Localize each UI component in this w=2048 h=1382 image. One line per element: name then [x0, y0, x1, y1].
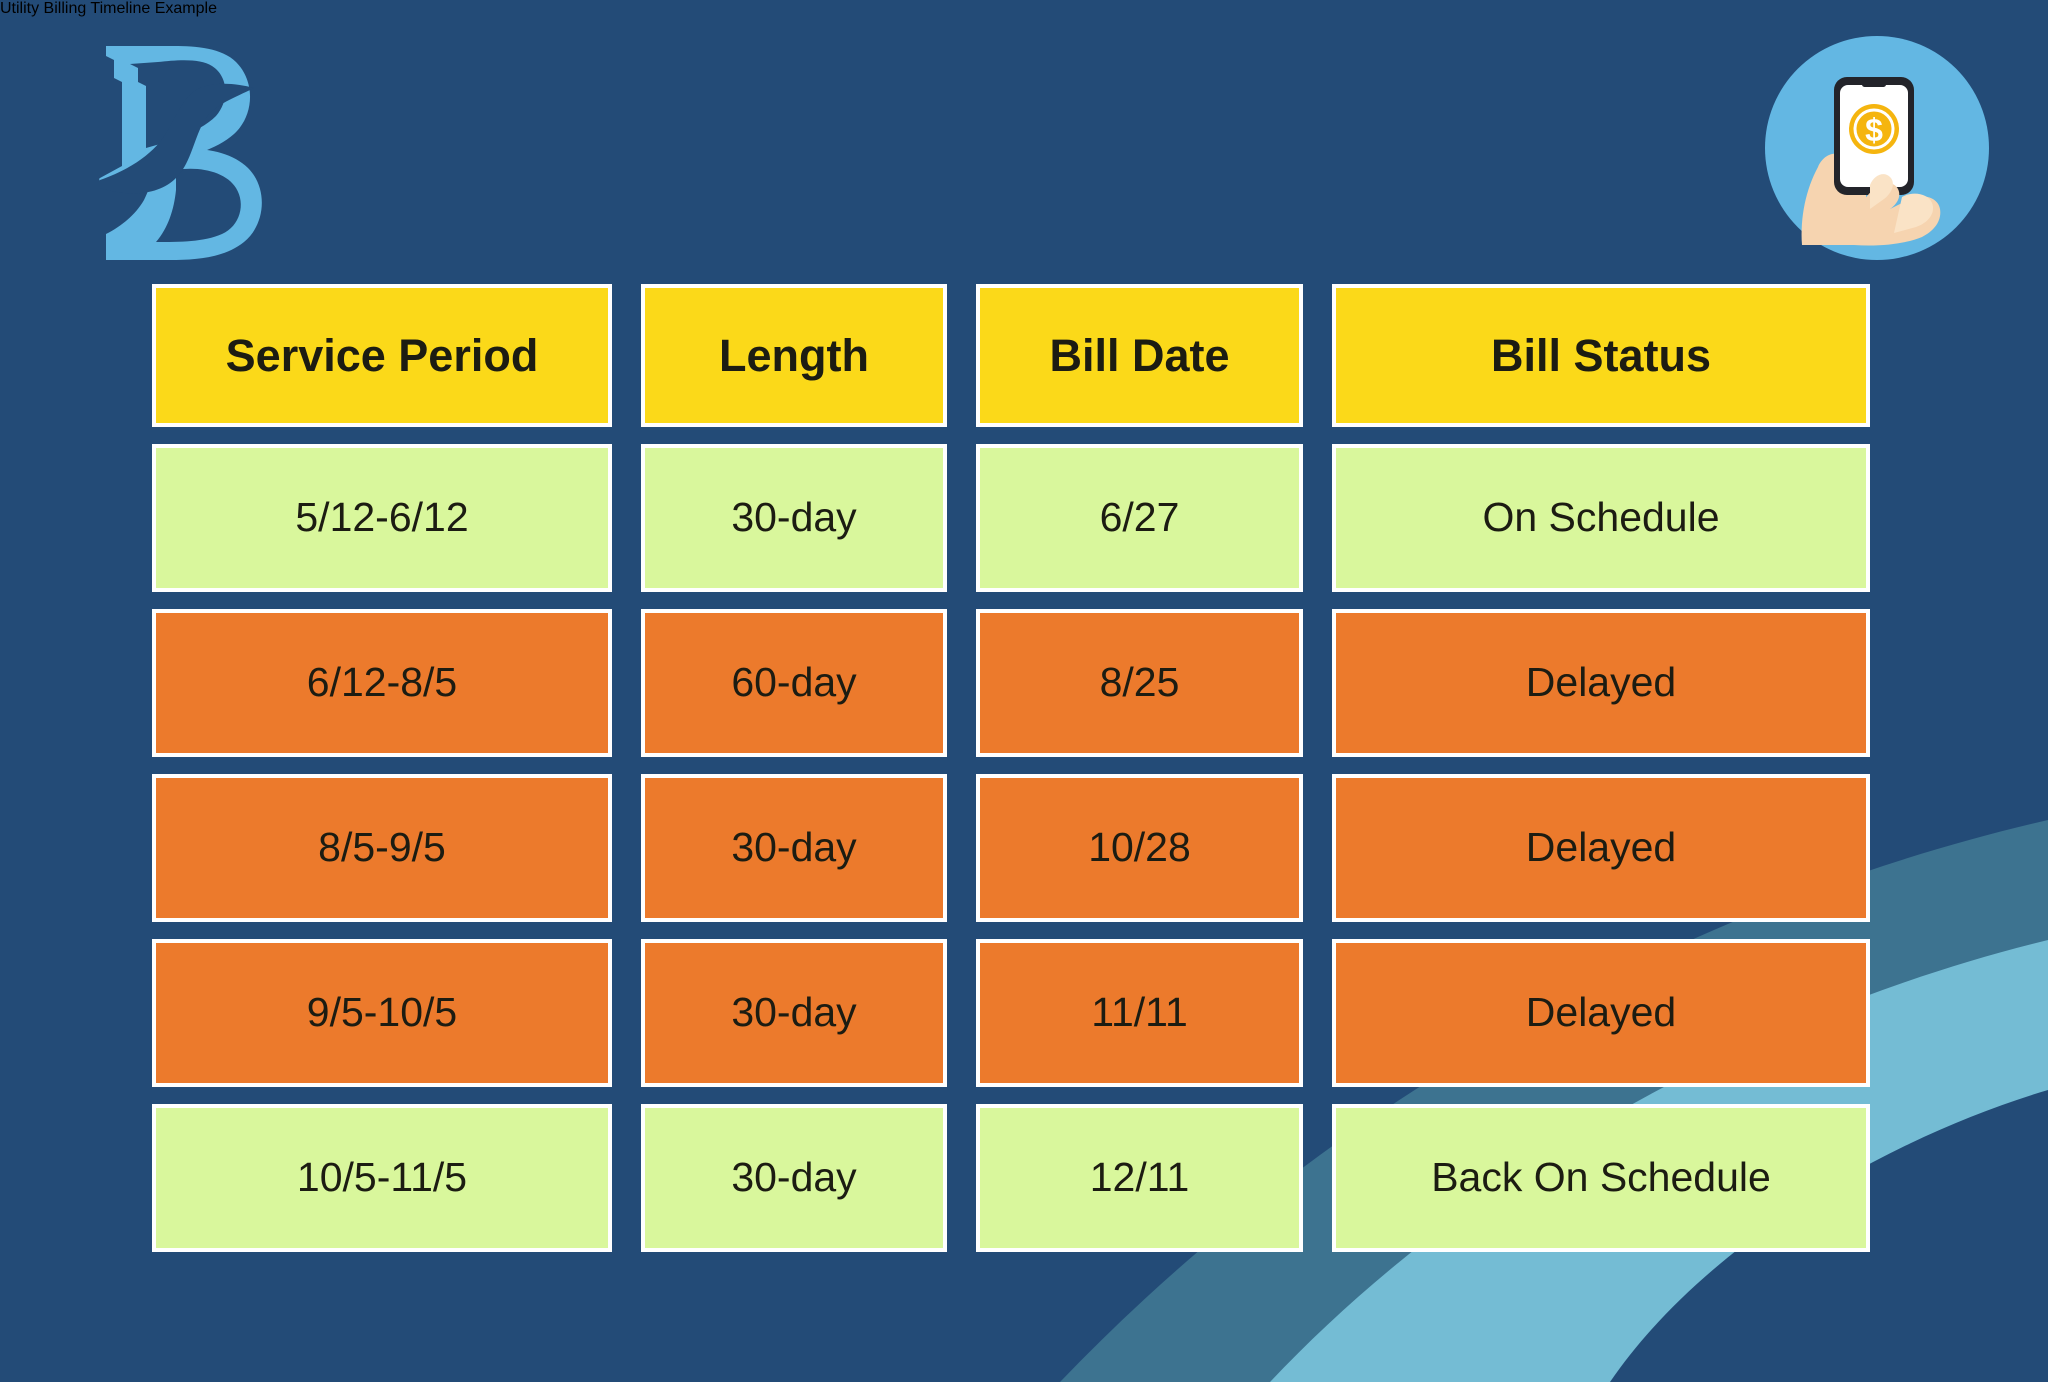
cell-bill-date: 8/25 — [976, 609, 1303, 757]
cell-length: 30-day — [641, 1104, 947, 1252]
table-row: 10/5-11/5 30-day 12/11 Back On Schedule — [152, 1104, 1870, 1252]
cell-bill-date: 6/27 — [976, 444, 1303, 592]
cell-service-period: 8/5-9/5 — [152, 774, 612, 922]
cell-length: 30-day — [641, 774, 947, 922]
table-row: 5/12-6/12 30-day 6/27 On Schedule — [152, 444, 1870, 592]
table-row: 8/5-9/5 30-day 10/28 Delayed — [152, 774, 1870, 922]
cell-service-period: 5/12-6/12 — [152, 444, 612, 592]
column-header-bill-status: Bill Status — [1332, 284, 1870, 427]
column-header-length: Length — [641, 284, 947, 427]
cell-bill-status: Delayed — [1332, 939, 1870, 1087]
column-header-service-period: Service Period — [152, 284, 612, 427]
cell-bill-date: 10/28 — [976, 774, 1303, 922]
cell-bill-status: Delayed — [1332, 774, 1870, 922]
table-row: 9/5-10/5 30-day 11/11 Delayed — [152, 939, 1870, 1087]
cell-bill-status: Back On Schedule — [1332, 1104, 1870, 1252]
cell-length: 30-day — [641, 444, 947, 592]
page-title: Utility Billing Timeline Example — [0, 0, 2048, 18]
cell-bill-status: On Schedule — [1332, 444, 1870, 592]
cell-length: 60-day — [641, 609, 947, 757]
river-b-logo-icon — [84, 38, 274, 268]
cell-length: 30-day — [641, 939, 947, 1087]
cell-bill-date: 12/11 — [976, 1104, 1303, 1252]
cell-bill-status: Delayed — [1332, 609, 1870, 757]
cell-service-period: 9/5-10/5 — [152, 939, 612, 1087]
cell-service-period: 6/12-8/5 — [152, 609, 612, 757]
cell-bill-date: 11/11 — [976, 939, 1303, 1087]
page-header: Utility Billing Timeline Example $ — [0, 0, 2048, 280]
table-row: 6/12-8/5 60-day 8/25 Delayed — [152, 609, 1870, 757]
phone-notch — [1862, 82, 1886, 87]
billing-table: Service Period Length Bill Date Bill Sta… — [152, 284, 1870, 1269]
mobile-payment-hand-icon: $ — [1762, 33, 1992, 263]
dollar-glyph: $ — [1865, 112, 1883, 148]
table-header-row: Service Period Length Bill Date Bill Sta… — [152, 284, 1870, 427]
cell-service-period: 10/5-11/5 — [152, 1104, 612, 1252]
column-header-bill-date: Bill Date — [976, 284, 1303, 427]
